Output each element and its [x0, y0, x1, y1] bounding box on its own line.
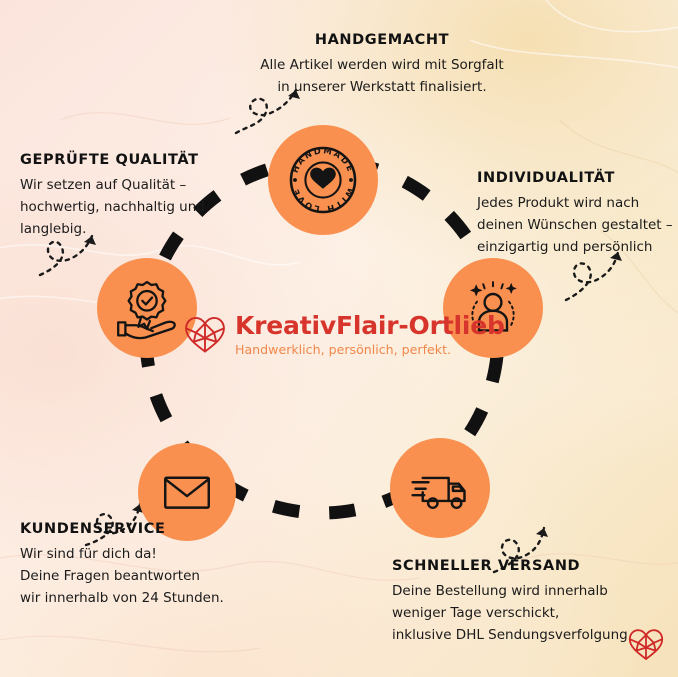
feature-node-handgemacht[interactable]: HANDMADE WITH LOVE [268, 125, 378, 235]
feature-text-kundenservice: KUNDENSERVICE Wir sind für dich da! Dein… [20, 521, 250, 610]
feature-line: Deine Bestellung wird innerhalb [392, 583, 608, 599]
feature-line: deinen Wünschen gestaltet – [477, 217, 673, 233]
feature-node-gepruefte-qualitaet[interactable] [97, 258, 197, 358]
brand-logo[interactable]: KreativFlair-Ortlieb Handwerklich, persö… [184, 312, 460, 358]
feature-line: wir innerhalb von 24 Stunden. [20, 590, 224, 606]
brand-name: KreativFlair-Ortlieb [235, 313, 505, 340]
feature-line: Jedes Produkt wird nach [477, 195, 639, 211]
feature-line: in unserer Werkstatt finalisiert. [277, 79, 486, 95]
feature-title-schneller-versand: SCHNELLER VERSAND [392, 558, 672, 574]
svg-text:WITH LOVE: WITH LOVE [290, 186, 356, 214]
feature-line: langlebig. [20, 221, 86, 237]
feature-title-individualitaet: INDIVIDUALITÄT [477, 170, 677, 186]
feature-title-gepruefte-qualitaet: GEPRÜFTE QUALITÄT [20, 152, 235, 168]
envelope-icon [153, 458, 221, 526]
feature-line: einzigartig und persönlich [477, 239, 652, 255]
infographic-canvas: HANDMADE WITH LOVE [0, 0, 678, 677]
feature-line: weniger Tage verschickt, [392, 605, 559, 621]
feature-body-individualitaet: Jedes Produkt wird nach deinen Wünschen … [477, 193, 677, 259]
svg-text:HANDMADE: HANDMADE [290, 145, 357, 174]
feature-line: inklusive DHL Sendungsverfolgung. [392, 627, 632, 643]
feature-line: Deine Fragen beantworten [20, 568, 200, 584]
feature-title-kundenservice: KUNDENSERVICE [20, 521, 250, 537]
feature-line: Wir sind für dich da! [20, 546, 157, 562]
feature-text-gepruefte-qualitaet: GEPRÜFTE QUALITÄT Wir setzen auf Qualitä… [20, 152, 235, 241]
feature-body-gepruefte-qualitaet: Wir setzen auf Qualität – hochwertig, na… [20, 175, 235, 241]
feature-node-schneller-versand[interactable] [390, 438, 490, 538]
feature-body-handgemacht: Alle Artikel werden wird mit Sorgfalt in… [232, 55, 532, 99]
feature-line: hochwertig, nachhaltig und [20, 199, 205, 215]
hand-quality-award-icon [111, 272, 183, 344]
delivery-truck-icon [404, 452, 476, 524]
feature-body-kundenservice: Wir sind für dich da! Deine Fragen beant… [20, 544, 250, 610]
feature-line: Wir setzen auf Qualität – [20, 177, 186, 193]
feature-title-handgemacht: HANDGEMACHT [232, 32, 532, 48]
geometric-heart-icon [184, 314, 226, 358]
feature-text-individualitaet: INDIVIDUALITÄT Jedes Produkt wird nach d… [477, 170, 677, 259]
brand-tagline: Handwerklich, persönlich, perfekt. [235, 342, 451, 357]
handmade-with-love-badge-icon: HANDMADE WITH LOVE [283, 140, 363, 220]
feature-line: Alle Artikel werden wird mit Sorgfalt [260, 57, 503, 73]
feature-text-handgemacht: HANDGEMACHT Alle Artikel werden wird mit… [232, 32, 532, 99]
corner-geometric-heart-icon[interactable] [628, 627, 664, 665]
